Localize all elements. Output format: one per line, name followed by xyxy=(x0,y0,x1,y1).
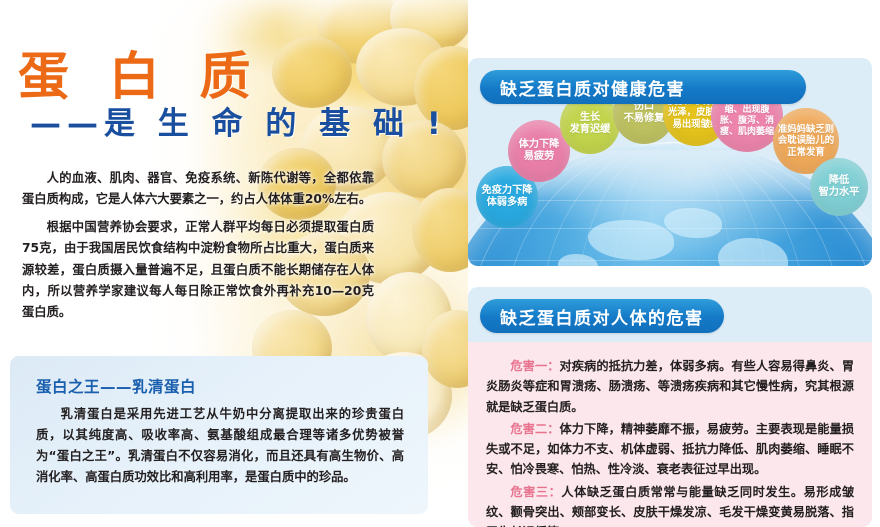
health-hazard-panel: 免疫力下降体弱多病体力下降易疲劳生长发育迟缓伤口不易修复皮肤、头发无光泽，皮肤容… xyxy=(468,58,872,266)
hazard-bubble-label: 免疫力下降体弱多病 xyxy=(478,185,537,209)
whey-protein-body: 乳清蛋白是采用先进工艺从牛奶中分离提取出来的珍贵蛋白质，以其纯度高、吸收率高、氨… xyxy=(36,404,404,489)
intro-paragraph: 根据中国营养协会要求，正常人群平均每日必须提取蛋白质75克，由于我国居民饮食结构… xyxy=(22,217,374,323)
headline: 蛋 白 质 ——是 生 命 的 基 础 ! xyxy=(18,52,447,140)
body-hazard-lead: 危害一： xyxy=(510,359,559,373)
left-column: 蛋 白 质 ——是 生 命 的 基 础 ! 人的血液、肌肉、器官、免疫系统、新陈… xyxy=(0,0,468,527)
infographic-root: 蛋 白 质 ——是 生 命 的 基 础 ! 人的血液、肌肉、器官、免疫系统、新陈… xyxy=(0,0,880,527)
body-hazard-heading-pill: 缺乏蛋白质对人体的危害 xyxy=(480,299,724,333)
hazard-bubble-label: 生长发育迟缓 xyxy=(566,112,615,136)
health-hazard-heading-pill: 缺乏蛋白质对健康危害 xyxy=(480,70,806,104)
hazard-bubble-label: 准妈妈缺乏则会耽误胎儿的正常发育 xyxy=(774,124,838,157)
whey-protein-title: 蛋白之王——乳清蛋白 xyxy=(10,356,428,397)
body-hazard-lead: 危害二： xyxy=(510,422,559,436)
body-hazard-panel: 缺乏蛋白质对人体的危害 危害一：对疾病的抵抗力差，体弱多病。有些人容易得鼻炎、胃… xyxy=(468,287,872,527)
intro-paragraph: 人的血液、肌肉、器官、免疫系统、新陈代谢等，全都依靠蛋白质构成，它是人体六大要素… xyxy=(22,168,374,210)
body-hazard-paragraph: 危害一：对疾病的抵抗力差，体弱多病。有些人容易得鼻炎、胃炎肠炎等症和胃溃疡、肠溃… xyxy=(468,342,872,417)
whey-protein-card: 蛋白之王——乳清蛋白 乳清蛋白是采用先进工艺从牛奶中分离提取出来的珍贵蛋白质，以… xyxy=(10,356,428,514)
right-column: 免疫力下降体弱多病体力下降易疲劳生长发育迟缓伤口不易修复皮肤、头发无光泽，皮肤容… xyxy=(468,0,880,527)
health-hazard-heading-text: 缺乏蛋白质对健康危害 xyxy=(500,75,685,100)
body-hazard-lead: 危害三： xyxy=(510,485,561,499)
page-title: 蛋 白 质 xyxy=(18,52,447,103)
body-hazard-paragraph: 危害三：人体缺乏蛋白质常常与能量缺乏同时发生。易形成皱纹、颧骨突出、颊部变长、皮… xyxy=(468,482,872,527)
body-hazard-paragraph: 危害二：体力下降，精神萎靡不振，易疲劳。主要表现是能量损失或不足，如体力不支、机… xyxy=(468,419,872,480)
intro-paragraphs: 人的血液、肌肉、器官、免疫系统、新陈代谢等，全都依靠蛋白质构成，它是人体六大要素… xyxy=(22,168,374,330)
hazard-bubble-label: 降低智力水平 xyxy=(815,175,864,199)
hazard-bubble-label: 伤口不易修复 xyxy=(620,101,669,125)
body-hazard-text-box: 危害一：对疾病的抵抗力差，体弱多病。有些人容易得鼻炎、胃炎肠炎等症和胃溃疡、肠溃… xyxy=(468,342,872,527)
body-hazard-heading-text: 缺乏蛋白质对人体的危害 xyxy=(500,304,704,329)
hazard-bubble: 降低智力水平 xyxy=(810,158,868,216)
hazard-bubble-label: 体力下降易疲劳 xyxy=(515,139,564,163)
page-subtitle: ——是 生 命 的 基 础 ! xyxy=(30,109,447,140)
